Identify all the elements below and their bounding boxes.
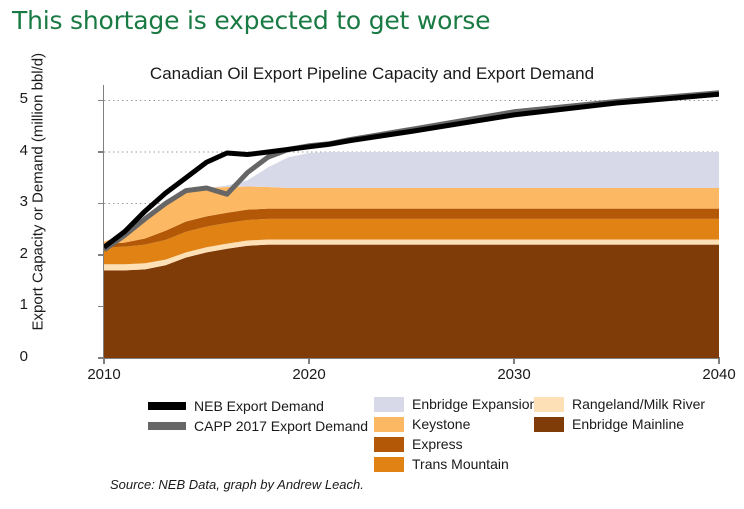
x-tick-label-2020: 2020 (269, 366, 349, 383)
legend-item-keystone[interactable]: Keystone (374, 416, 470, 432)
x-tick-label-2010: 2010 (64, 366, 144, 383)
legend-item-rangeland-milk-river[interactable]: Rangeland/Milk River (534, 396, 705, 412)
legend-item-express[interactable]: Express (374, 436, 463, 452)
chart-figure: Canadian Oil Export Pipeline Capacity an… (0, 52, 744, 452)
y-tick-label-0: 0 (0, 348, 28, 365)
legend-label: Trans Mountain (412, 456, 509, 472)
legend-line-swatch (148, 402, 186, 410)
legend-line-swatch (148, 422, 186, 430)
legend-color-swatch (374, 417, 404, 432)
stacked-area-svg (104, 85, 719, 358)
legend-color-swatch (534, 397, 564, 412)
x-tick-2040 (718, 358, 719, 364)
legend-label: Rangeland/Milk River (572, 396, 705, 412)
y-axis-label: Export Capacity or Demand (million bbl/d… (30, 71, 47, 331)
legend-color-swatch (374, 457, 404, 472)
legend-item-trans-mountain[interactable]: Trans Mountain (374, 456, 509, 472)
legend-item-enbridge-mainline[interactable]: Enbridge Mainline (534, 416, 684, 432)
legend-label: CAPP 2017 Export Demand (194, 418, 368, 434)
x-tick-label-2040: 2040 (679, 366, 744, 383)
chart-title: Canadian Oil Export Pipeline Capacity an… (0, 64, 744, 84)
legend-color-swatch (374, 437, 404, 452)
legend-color-swatch (374, 397, 404, 412)
y-tick-label-5: 5 (0, 90, 28, 107)
legend-label: Enbridge Expansions (412, 396, 544, 412)
x-tick-2020 (308, 358, 309, 364)
area-enbridge-mainline (104, 245, 719, 358)
x-tick-label-2030: 2030 (474, 366, 554, 383)
x-tick-2030 (513, 358, 514, 364)
legend-item-enbridge-expansions[interactable]: Enbridge Expansions (374, 396, 544, 412)
chart-legend: NEB Export DemandCAPP 2017 Export Demand… (0, 395, 744, 475)
y-tick-label-2: 2 (0, 245, 28, 262)
x-tick-2010 (103, 358, 104, 364)
legend-item-neb-export-demand[interactable]: NEB Export Demand (148, 398, 324, 414)
legend-item-capp-2017-export-demand[interactable]: CAPP 2017 Export Demand (148, 418, 368, 434)
slide-root: This shortage is expected to get worse C… (0, 0, 744, 509)
source-note: Source: NEB Data, graph by Andrew Leach. (110, 477, 364, 492)
legend-color-swatch (534, 417, 564, 432)
y-tick-label-3: 3 (0, 193, 28, 210)
y-tick-label-4: 4 (0, 142, 28, 159)
slide-title: This shortage is expected to get worse (12, 6, 490, 35)
legend-label: Enbridge Mainline (572, 416, 684, 432)
legend-label: NEB Export Demand (194, 398, 324, 414)
y-tick-label-1: 1 (0, 296, 28, 313)
plot-area (104, 85, 719, 358)
legend-label: Keystone (412, 416, 470, 432)
legend-label: Express (412, 436, 463, 452)
